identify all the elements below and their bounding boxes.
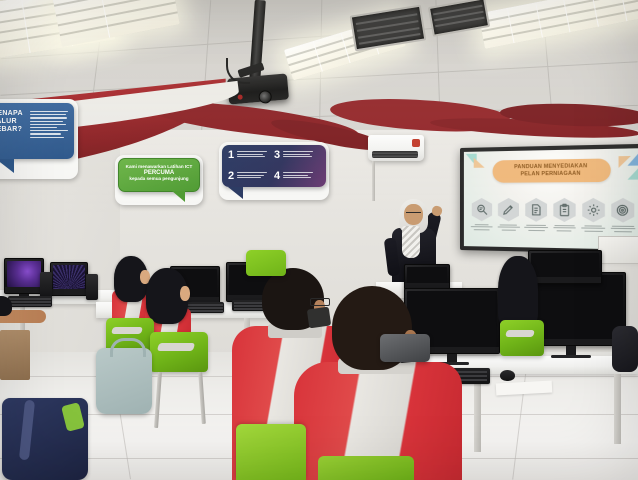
chair (500, 320, 544, 356)
pc-tower (40, 272, 52, 298)
desk-leg (614, 374, 621, 444)
wall-sign-step-number: 2 (228, 171, 234, 182)
wall-sign-step-number: 3 (274, 150, 280, 161)
wall-sign-step: 4 (274, 171, 320, 182)
wall-sign-step: 2 (228, 171, 274, 182)
target-icon (611, 198, 635, 223)
slide-icon-item (552, 198, 578, 233)
research-icon (471, 198, 492, 221)
slide-icon-item (580, 198, 606, 233)
monitor (50, 262, 88, 296)
chair (246, 250, 286, 276)
slide-title-line-2: PELAN PERNIAGAAN (493, 170, 611, 179)
slide-icon-item (496, 198, 520, 232)
presenter-scarf-drape (402, 226, 420, 258)
wall-sign-free-ict-tail: kepada semua pengunjung (124, 176, 194, 182)
tote-bag (96, 348, 152, 414)
gear-icon (582, 198, 605, 222)
classroom-photo: KENAPA JALUR LEBAR? Kami menawarkan Lati… (0, 0, 638, 480)
wall-sign-free-ict: Kami menawarkan Latihan ICT PERCUMA kepa… (118, 158, 200, 192)
chair-bag (380, 334, 430, 362)
clipboard-icon (553, 198, 575, 222)
wall-sign-step: 3 (274, 150, 320, 161)
pen-icon (498, 198, 519, 222)
chair-foreground (318, 456, 414, 480)
floor-box (0, 330, 30, 380)
student-right-arm (612, 326, 638, 372)
tote-bag-handle (110, 338, 146, 357)
monitor (4, 258, 44, 294)
slide-icon-item (610, 198, 637, 234)
air-conditioner-vent (372, 151, 418, 158)
slide-title: PANDUAN MENYEDIAKAN PELAN PERNIAGAAN (493, 158, 611, 182)
presenter-hand (431, 205, 443, 217)
air-conditioner (368, 135, 424, 161)
air-conditioner-badge (412, 139, 420, 147)
chair (150, 332, 208, 372)
projected-slide: PANDUAN MENYEDIAKAN PELAN PERNIAGAAN (464, 148, 638, 250)
student-hijab (498, 256, 538, 328)
wall-sign-steps: 1 2 3 4 (222, 145, 326, 187)
desk-leg (474, 374, 481, 452)
document-icon (525, 198, 547, 222)
slide-icon-item (470, 198, 494, 232)
chair-foreground (236, 424, 306, 480)
student-face (180, 286, 190, 301)
wall-sign-step-number: 1 (228, 150, 234, 161)
student-male-2 (294, 286, 466, 480)
wall-board (598, 236, 638, 264)
presenter-glasses (406, 212, 421, 217)
wall-sign-kenapa: KENAPA JALUR LEBAR? (0, 103, 74, 159)
pc-tower (86, 274, 98, 300)
wall-sign-step: 1 (228, 150, 274, 161)
slide-icon-item (524, 198, 549, 232)
mouse (500, 370, 515, 381)
student-left-head (0, 296, 12, 316)
wall-sign-kenapa-body-text (30, 111, 68, 140)
slide-icon-row (470, 198, 637, 234)
air-conditioner-pipe (372, 161, 375, 201)
wall-sign-step-number: 4 (274, 171, 280, 182)
